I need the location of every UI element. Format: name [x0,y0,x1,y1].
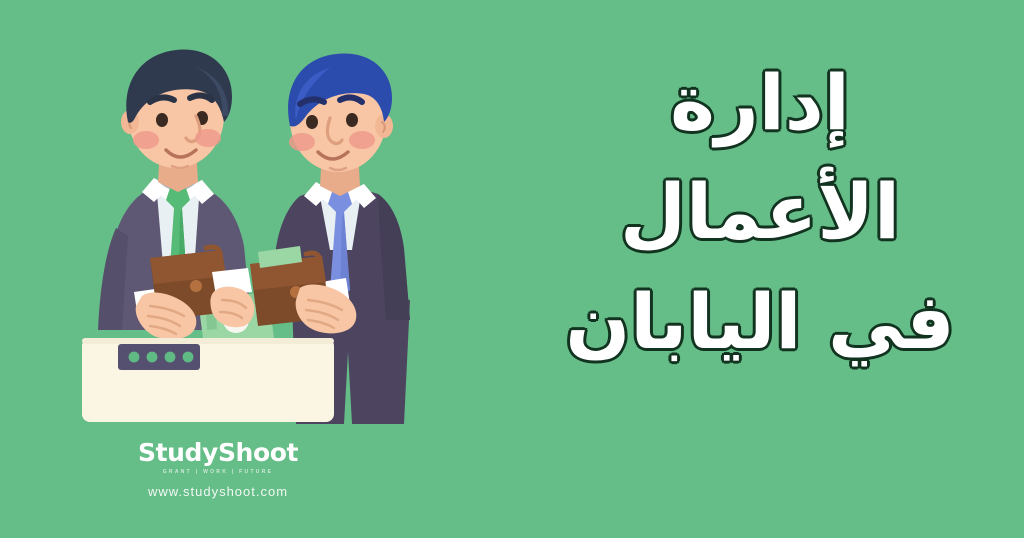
logo-website-url: www.studyshoot.com [138,485,298,498]
logo-wordmark: StudyShoot [138,440,298,466]
studyshoot-logo: StudyShoot GRANT | WORK | FUTURE www.stu… [138,440,298,498]
headline-line-1: إدارة [520,48,1000,157]
hand-giving-money [210,268,254,327]
headline-line-3: في اليابان [520,267,1000,376]
service-counter [82,338,334,422]
headline-arabic: إدارة الأعمال في اليابان [520,48,1000,376]
headline-line-2: الأعمال [520,157,1000,266]
illustration-businessmen-exchanging-money [0,0,470,470]
counter-indicator-panel [118,344,200,370]
banner-canvas: إدارة الأعمال في اليابان StudyShoot GRAN… [0,0,1024,538]
logo-tagline: GRANT | WORK | FUTURE [138,470,298,475]
